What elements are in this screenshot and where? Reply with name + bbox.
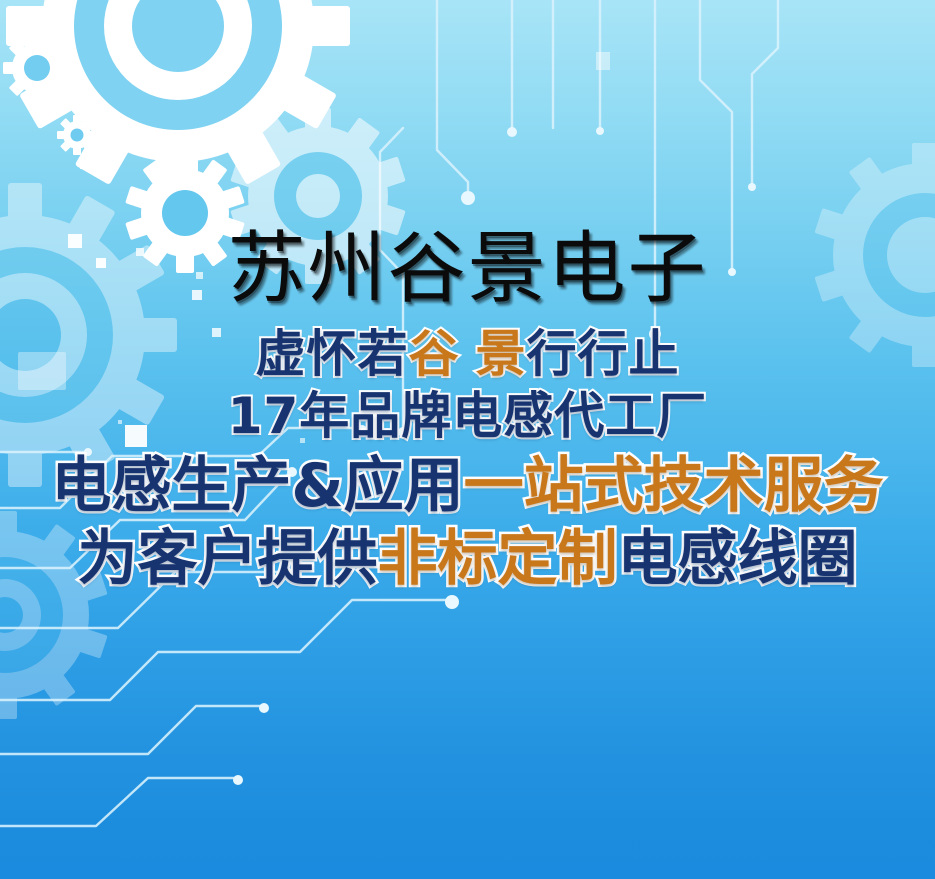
headline-text-block: 苏州谷景电子 虚怀若谷景行行止 17年品牌电感代工厂 电感生产&应用一站式技术服… xyxy=(0,228,935,595)
company-title: 苏州谷景电子 xyxy=(0,228,935,311)
gear-large-white-icon xyxy=(6,0,350,198)
motto-part-1: 虚怀若 xyxy=(256,325,409,383)
custom-navy-text-1: 为客户提供 xyxy=(78,524,378,594)
gear-small-white-icon xyxy=(3,34,71,102)
tagline-line-service: 电感生产&应用一站式技术服务 xyxy=(0,452,935,522)
gear-tiny-white-icon xyxy=(57,115,97,155)
tagline-line-motto: 虚怀若谷景行行止 xyxy=(0,325,935,384)
tagline-line-years: 17年品牌电感代工厂 xyxy=(0,386,935,446)
years-text: 17年品牌电感代工厂 xyxy=(228,387,708,445)
custom-navy-text-2: 电感线圈 xyxy=(618,524,858,594)
motto-highlight-gu: 谷 xyxy=(409,325,460,383)
service-gold-text: 一站式技术服务 xyxy=(464,451,884,521)
service-navy-text: 电感生产&应用 xyxy=(51,451,463,521)
tagline-line-custom: 为客户提供非标定制电感线圈 xyxy=(0,525,935,595)
motto-highlight-jing: 景 xyxy=(476,325,527,383)
custom-gold-text: 非标定制 xyxy=(378,524,618,594)
tagline-group: 虚怀若谷景行行止 17年品牌电感代工厂 电感生产&应用一站式技术服务 为客户提供… xyxy=(0,325,935,595)
motto-part-2: 行行止 xyxy=(527,325,680,383)
promotional-banner: 苏州谷景电子 虚怀若谷景行行止 17年品牌电感代工厂 电感生产&应用一站式技术服… xyxy=(0,0,935,879)
